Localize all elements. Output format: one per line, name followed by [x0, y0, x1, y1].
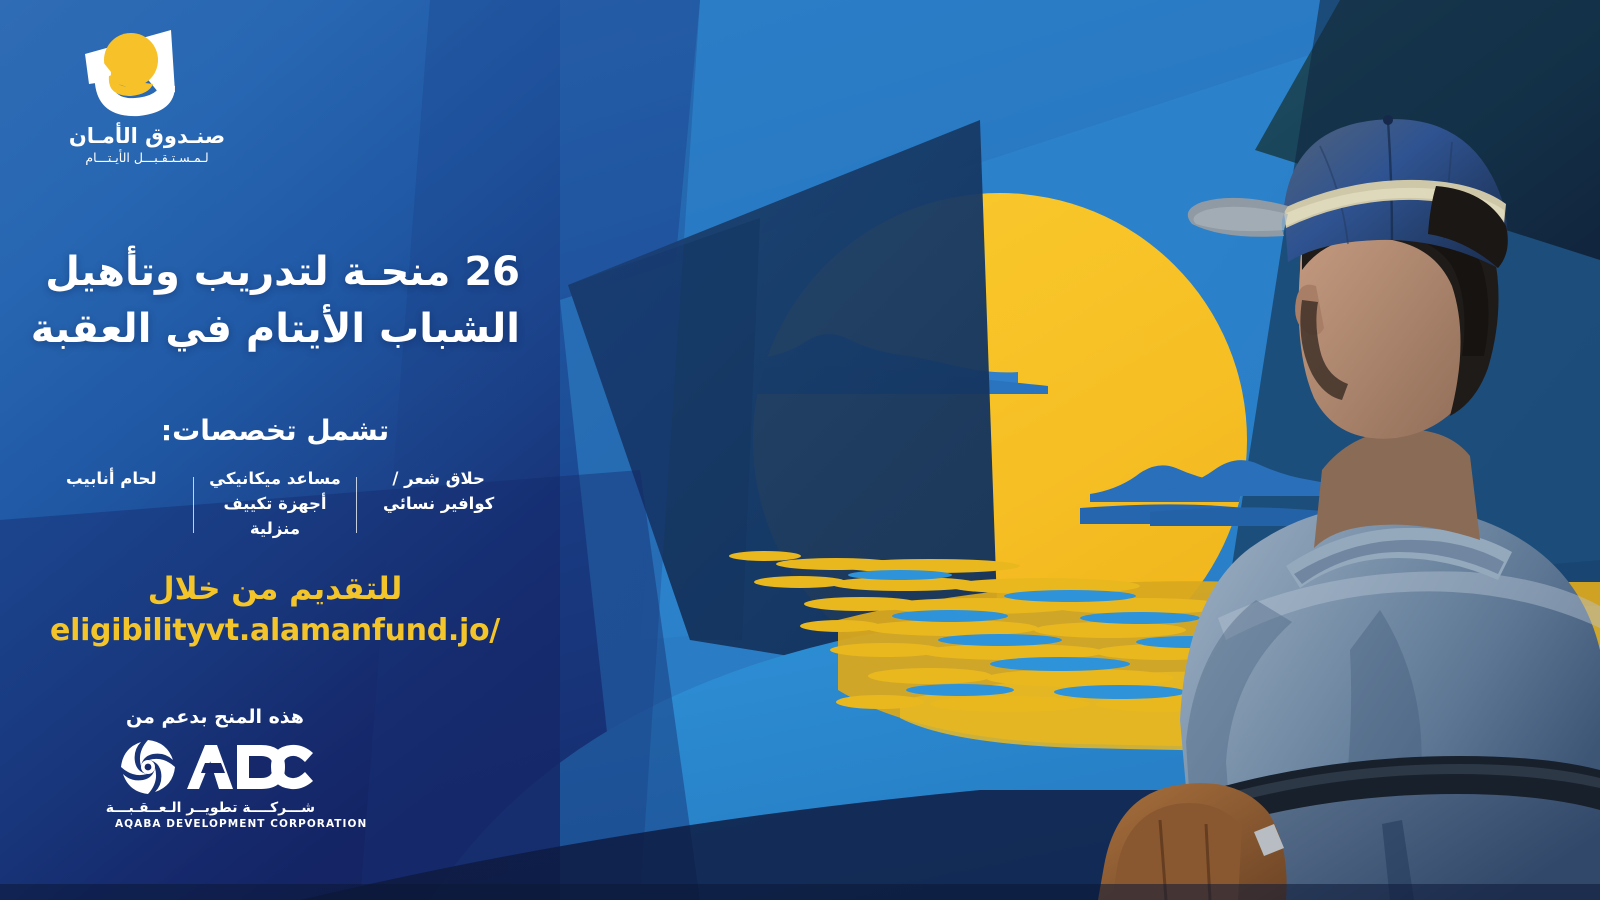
fund-wordmark: صنـدوق الأمـان لـمـسـتـقـبـــل الأيـتـــ…: [55, 124, 239, 166]
specializations-title: تشمل تخصصات:: [30, 414, 520, 447]
specialization-item: حلاق شعر / كوافير نسائي: [357, 464, 520, 543]
headline: 26 منحـة لتدريب وتأهيل الشباب الأيتام في…: [30, 244, 520, 358]
specialization-divider: [193, 477, 194, 533]
specializations-list: حلاق شعر / كوافير نسائي مساعد ميكانيكي أ…: [30, 464, 520, 543]
fund-name: صنـدوق الأمـان: [55, 124, 239, 148]
headline-line-2: الشباب الأيتام في العقبة: [30, 301, 520, 358]
adc-spiral-icon: [117, 736, 179, 798]
adc-logo: [115, 736, 315, 798]
cta-label: للتقديم من خلال: [30, 570, 520, 609]
supporter-block: هذه المنح بدعم من: [55, 706, 315, 830]
fund-speech-bubble-mark-icon: [75, 26, 195, 118]
application-url-link[interactable]: eligibilityvt.alamanfund.jo/: [30, 613, 520, 648]
call-to-action: للتقديم من خلال eligibilityvt.alamanfund…: [30, 570, 520, 648]
fund-tagline: لـمـسـتـقـبـــل الأيـتـــام: [55, 150, 239, 166]
specialization-divider: [356, 477, 357, 533]
specialization-item: مساعد ميكانيكي أجهزة تكييف منزلية: [194, 464, 357, 543]
content-column: صنـدوق الأمـان لـمـسـتـقـبـــل الأيـتـــ…: [0, 0, 560, 900]
specialization-item: لحام أنابيب: [30, 464, 193, 543]
poster-canvas: صنـدوق الأمـان لـمـسـتـقـبـــل الأيـتـــ…: [0, 0, 1600, 900]
supporter-label: هذه المنح بدعم من: [115, 706, 315, 728]
adc-wordmark-icon: [185, 741, 315, 793]
adc-name-english: AQABA DEVELOPMENT CORPORATION: [115, 818, 315, 830]
headline-line-1: 26 منحـة لتدريب وتأهيل: [45, 249, 520, 295]
alaman-fund-logo: صنـدوق الأمـان لـمـسـتـقـبـــل الأيـتـــ…: [55, 26, 245, 166]
adc-name-arabic: شـــركــــة تطويــر الـعــقـبـــة: [115, 800, 315, 816]
